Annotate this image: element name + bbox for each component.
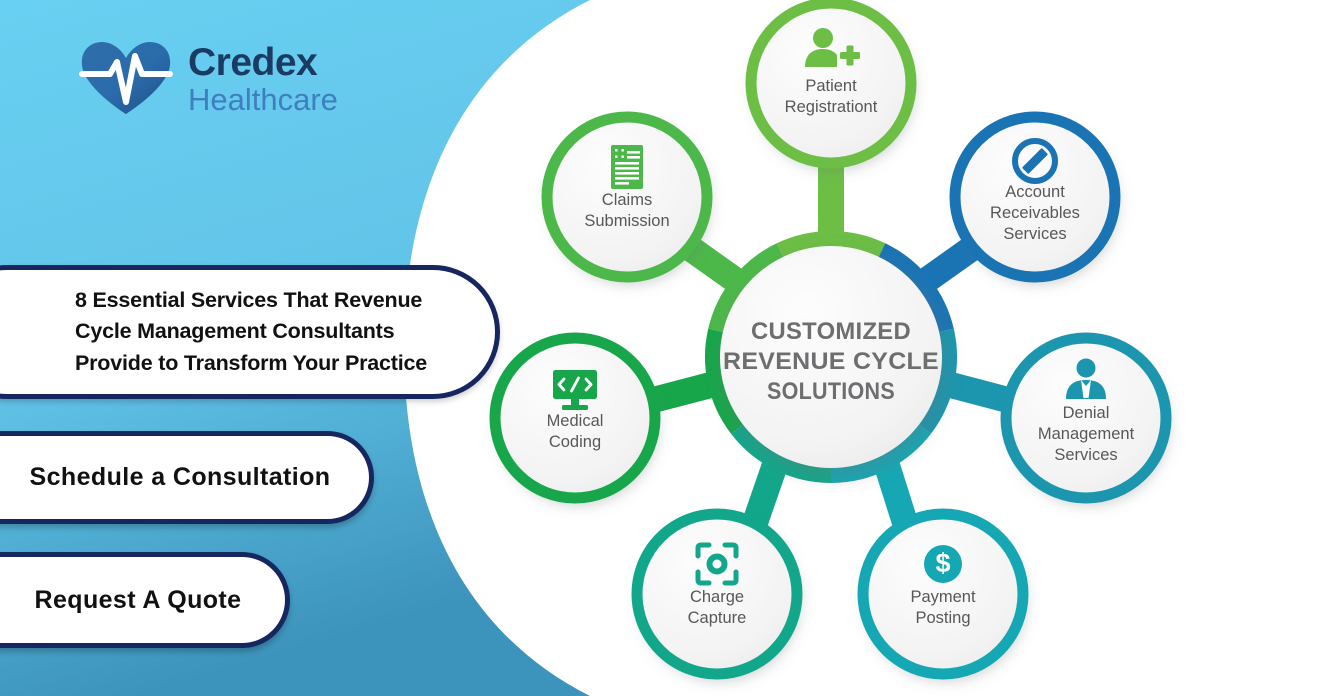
request-quote-label: Request A Quote bbox=[0, 584, 241, 617]
hub-label-line-2: REVENUE CYCLE bbox=[723, 348, 939, 375]
schedule-consultation-label: Schedule a Consultation bbox=[0, 461, 330, 494]
infographic-canvas: Credex Healthcare 8 Essential Services T… bbox=[0, 0, 1321, 696]
request-quote-button[interactable]: Request A Quote bbox=[0, 552, 290, 648]
service-node-patient-registration[interactable]: PatientRegistrationt bbox=[751, 3, 911, 163]
node-label-charge-capture-1: Charge bbox=[690, 588, 744, 606]
node-label-medical-coding-1: Medical bbox=[547, 412, 604, 430]
hub-label-line-1: CUSTOMIZED bbox=[751, 318, 911, 345]
brand-name: Credex bbox=[188, 43, 338, 82]
node-label-payment-posting-2: Posting bbox=[915, 609, 970, 627]
node-label-claims-submission-2: Submission bbox=[584, 212, 669, 230]
node-label-account-receivables-3: Services bbox=[1003, 225, 1066, 243]
dollar-circle-icon: $ bbox=[924, 545, 962, 583]
service-node-denial-management[interactable]: DenialManagementServices bbox=[1006, 338, 1166, 498]
service-node-charge-capture[interactable]: ChargeCapture bbox=[637, 514, 797, 674]
node-label-patient-registration-2: Registrationt bbox=[785, 98, 878, 116]
headline-pill: 8 Essential Services That Revenue Cycle … bbox=[0, 265, 500, 399]
svg-text:$: $ bbox=[935, 548, 950, 578]
schedule-consultation-button[interactable]: Schedule a Consultation bbox=[0, 431, 374, 524]
rcm-services-diagram: CUSTOMIZEDREVENUE CYCLESOLUTIONS Patient… bbox=[430, 0, 1321, 696]
node-label-denial-management-2: Management bbox=[1038, 425, 1135, 443]
brand-logo: Credex Healthcare bbox=[78, 40, 338, 118]
service-node-medical-coding[interactable]: MedicalCoding bbox=[495, 338, 655, 498]
node-label-patient-registration-1: Patient bbox=[805, 77, 857, 95]
medical-document-icon bbox=[611, 145, 643, 189]
heart-ekg-icon bbox=[78, 40, 174, 118]
service-node-claims-submission[interactable]: ClaimsSubmission bbox=[547, 117, 707, 277]
node-label-account-receivables-2: Receivables bbox=[990, 204, 1080, 222]
node-label-claims-submission-1: Claims bbox=[602, 191, 652, 209]
service-node-account-receivables[interactable]: AccountReceivablesServices bbox=[955, 117, 1115, 277]
hub-label-line-3: SOLUTIONS bbox=[767, 378, 895, 405]
node-label-denial-management-1: Denial bbox=[1063, 404, 1110, 422]
node-label-account-receivables-1: Account bbox=[1005, 183, 1065, 201]
hub-center: CUSTOMIZEDREVENUE CYCLESOLUTIONS bbox=[720, 246, 942, 468]
page-title: 8 Essential Services That Revenue Cycle … bbox=[75, 285, 437, 379]
node-label-charge-capture-2: Capture bbox=[688, 609, 747, 627]
node-label-medical-coding-2: Coding bbox=[549, 433, 601, 451]
node-label-payment-posting-1: Payment bbox=[910, 588, 976, 606]
service-node-payment-posting[interactable]: $PaymentPosting bbox=[863, 514, 1023, 674]
brand-subtitle: Healthcare bbox=[188, 84, 338, 115]
node-label-denial-management-3: Services bbox=[1054, 446, 1117, 464]
